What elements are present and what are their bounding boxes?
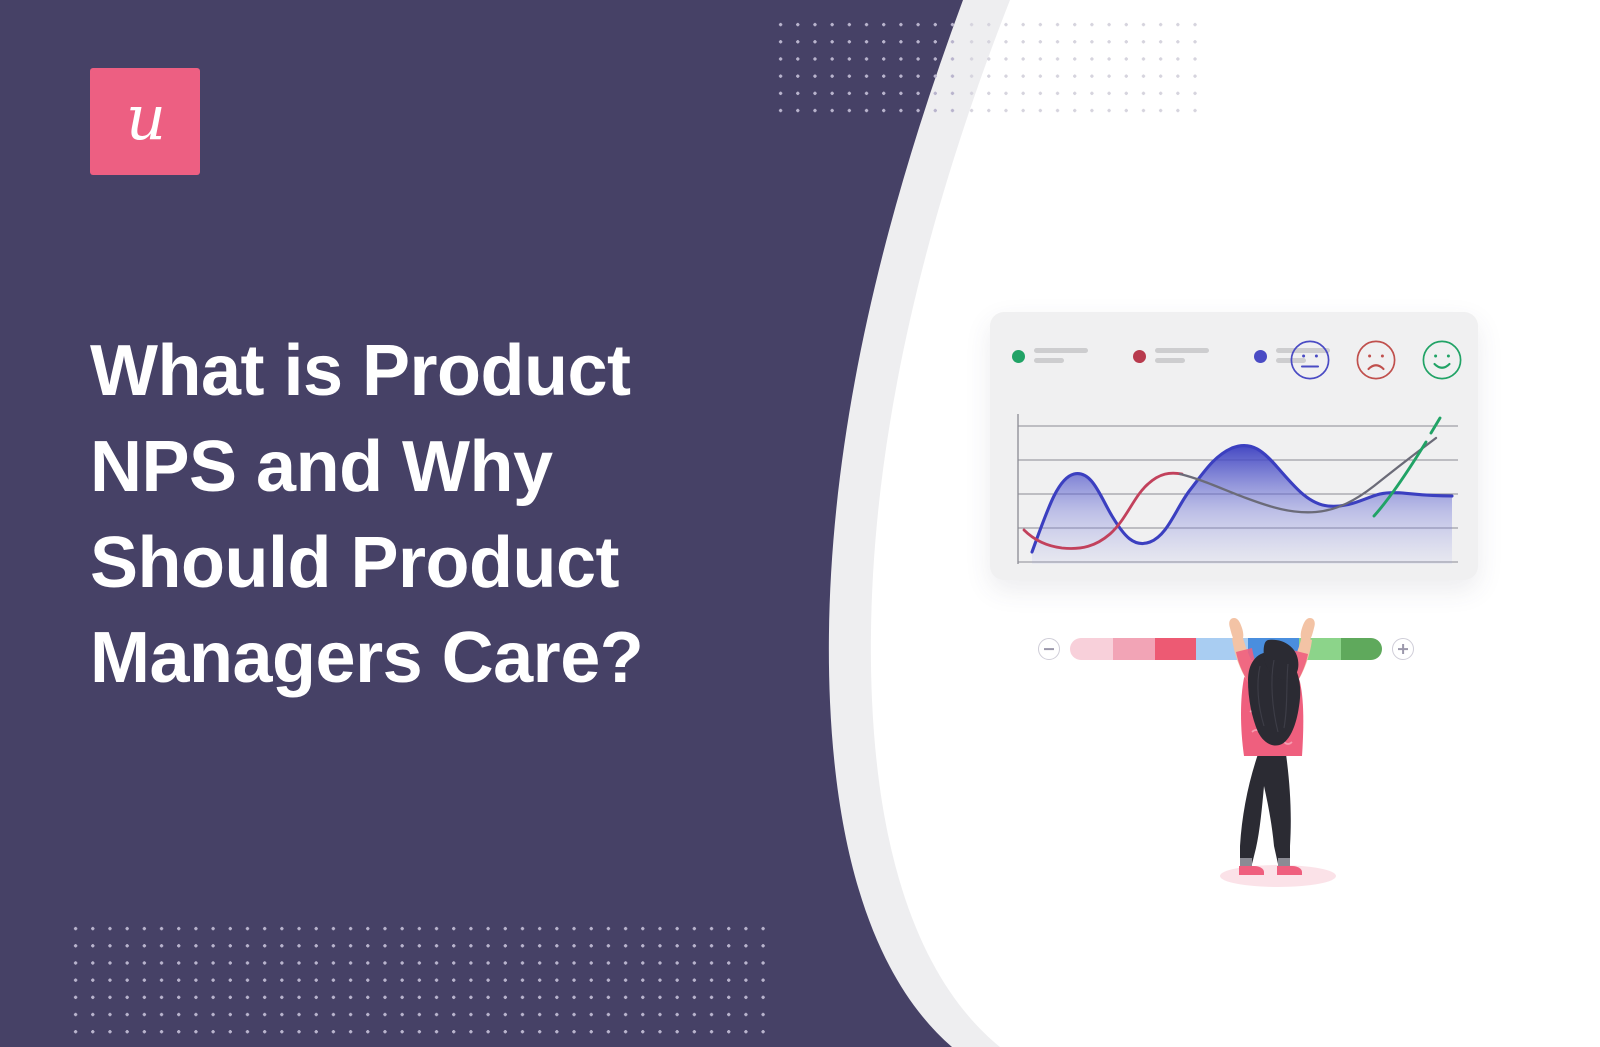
- neutral-face-icon[interactable]: [1288, 338, 1332, 382]
- series-nps-area: [1032, 445, 1452, 564]
- legend-placeholder-text: [1034, 348, 1088, 363]
- logo-glyph: u: [126, 87, 166, 149]
- happy-face-icon[interactable]: [1420, 338, 1464, 382]
- page-title: What is Product NPS and Why Should Produ…: [90, 324, 730, 707]
- legend-item-promoters: [1012, 348, 1088, 363]
- legend-line-secondary: [1155, 358, 1185, 363]
- chart-legend: [1012, 348, 1330, 363]
- graphic-canvas: u What is Product NPS and Why Should Pro…: [0, 0, 1600, 1047]
- nps-line-chart: [1012, 412, 1458, 566]
- shoe-right: [1277, 866, 1302, 875]
- woman-adjusting-slider: [1182, 608, 1372, 898]
- sock-left: [1240, 858, 1252, 866]
- slider-increase-button[interactable]: [1392, 638, 1414, 660]
- sentiment-face-group: [1288, 338, 1464, 382]
- sock-right: [1278, 858, 1290, 866]
- slider-segment-1[interactable]: [1070, 638, 1113, 660]
- slider-segment-2[interactable]: [1113, 638, 1154, 660]
- legend-dot-icon: [1012, 350, 1025, 363]
- slider-decrease-button[interactable]: [1038, 638, 1060, 660]
- legend-line-secondary: [1034, 358, 1064, 363]
- legend-item-detractors: [1133, 348, 1209, 363]
- hand-right: [1301, 618, 1315, 642]
- hand-left: [1229, 618, 1243, 642]
- legend-line-primary: [1155, 348, 1209, 353]
- pants: [1240, 754, 1291, 864]
- nps-dashboard-card: [990, 312, 1478, 580]
- legend-dot-icon: [1133, 350, 1146, 363]
- legend-placeholder-text: [1155, 348, 1209, 363]
- legend-dot-icon: [1254, 350, 1267, 363]
- shoe-left: [1239, 866, 1264, 875]
- sad-face-icon[interactable]: [1354, 338, 1398, 382]
- userpilot-logo[interactable]: u: [90, 68, 200, 175]
- legend-line-primary: [1034, 348, 1088, 353]
